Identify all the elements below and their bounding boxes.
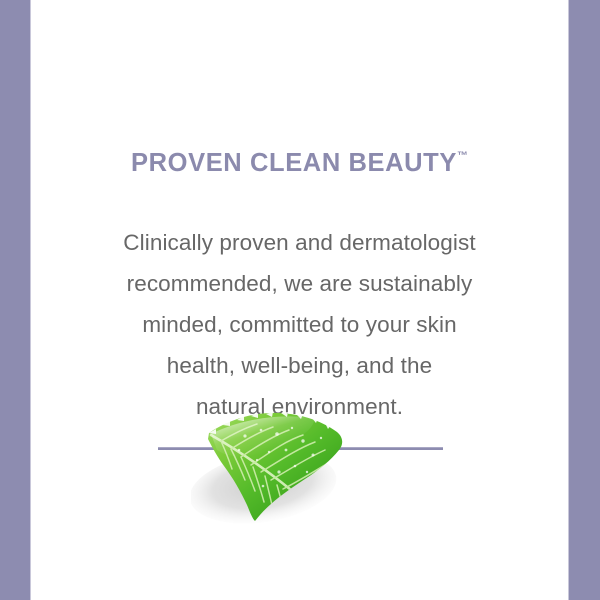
body-paragraph: Clinically proven and dermatologist reco… bbox=[31, 222, 568, 427]
body-line: minded, committed to your skin bbox=[31, 304, 568, 345]
trademark-symbol: ™ bbox=[457, 150, 468, 162]
body-line: Clinically proven and dermatologist bbox=[31, 222, 568, 263]
leaf-ornament bbox=[191, 400, 371, 540]
card-content: PROVEN CLEAN BEAUTY™ Clinically proven a… bbox=[31, 0, 568, 600]
left-accent-bar bbox=[0, 0, 30, 600]
proven-clean-beauty-card: PROVEN CLEAN BEAUTY™ Clinically proven a… bbox=[0, 0, 600, 600]
leaf-icon bbox=[191, 400, 371, 540]
body-line: health, well-being, and the bbox=[31, 345, 568, 386]
divider-ornament bbox=[31, 400, 568, 540]
page-title: PROVEN CLEAN BEAUTY™ bbox=[31, 151, 568, 177]
page-title-text: PROVEN CLEAN BEAUTY bbox=[131, 149, 457, 177]
right-accent-seam bbox=[568, 0, 569, 600]
body-line: recommended, we are sustainably bbox=[31, 263, 568, 304]
right-accent-bar bbox=[569, 0, 600, 600]
